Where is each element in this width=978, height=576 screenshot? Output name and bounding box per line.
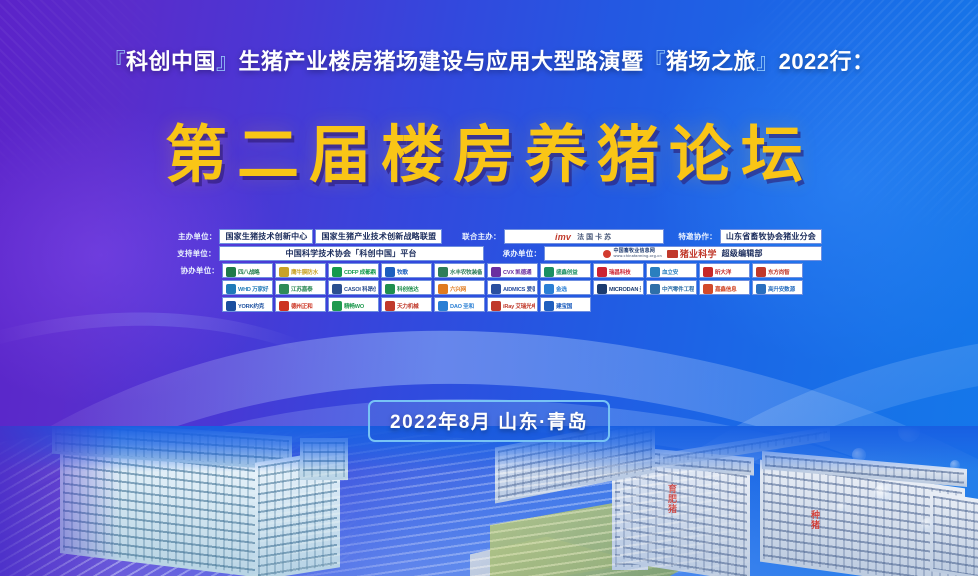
sponsor-logo: DAO 圣和: [434, 297, 485, 312]
bokeh-4: [874, 484, 892, 502]
sponsor-logo-mark-icon: [544, 284, 554, 294]
poster-main-title: 第二届楼房养猪论坛: [0, 104, 978, 194]
sponsor-logo-mark-icon: [756, 267, 766, 277]
sponsor-row-1: 协办单位： 四八战略鹰牛膜防水CDFP 成都鼎峰牧歌水丰农牧装备CVX 凯德通盛…: [176, 263, 824, 278]
bracket-open-2: 『: [644, 49, 667, 74]
sponsor-logo-name: MICRODAN 麦克罗凡: [609, 281, 641, 295]
label-co-organiser: 联合主办：: [458, 231, 503, 242]
sponsor-logo: 嘉鑫信息: [699, 280, 750, 295]
sponsor-logo: 天力机械: [381, 297, 432, 312]
conference-poster: 育肥猪 种猪 『科创中国』生猪产业楼房猪场建设与应用大型路演暨『猪场之旅』202…: [0, 0, 978, 576]
label-support-unit: 支持单位：: [176, 248, 219, 259]
sponsor-logo: 六兴网: [434, 280, 485, 295]
sponsor-row-3: YORK约克德州正和精畅WO天力机械DAO 圣和iRay 艾瑞光电建宝国: [176, 297, 824, 312]
organiser-row-2: 支持单位： 中国科学技术协会「科创中国」平台 承办单位： 中国畜牧业信息网 ww…: [176, 246, 824, 261]
host-name-2: 猪业科学: [680, 247, 717, 260]
sponsor-logo-name: CASOI 科昂仪器: [344, 281, 376, 295]
sponsor-logos-row-1: 四八战略鹰牛膜防水CDFP 成都鼎峰牧歌水丰农牧装备CVX 凯德通盛鑫创益瑞昌科…: [222, 263, 805, 278]
sponsor-logo-name: 中汽零件工程设计: [662, 281, 694, 295]
sponsor-logo-name: 牧歌: [397, 264, 429, 278]
sponsor-logo-mark-icon: [226, 284, 236, 294]
sponsor-logo-name: 嘉鑫信息: [715, 281, 747, 295]
sponsor-row-2: WHD 万家好江苏嘉泰CASOI 科昂仪器科创信达六兴网AIDMICS 爱德华卡…: [176, 280, 824, 295]
organiser-cell-2: 国家生猪产业技术创新战略联盟: [315, 229, 442, 244]
sponsor-logo-name: 鹰牛膜防水: [291, 264, 323, 278]
sponsor-logo: AIDMICS 爱德华卡: [487, 280, 538, 295]
sponsor-logo-mark-icon: [544, 267, 554, 277]
organiser-row-1: 主办单位： 国家生猪技术创新中心 国家生猪产业技术创新战略联盟 联合主办： im…: [176, 229, 824, 244]
sponsor-logo: 四八战略: [222, 263, 273, 278]
poster-subtitle: 『科创中国』生猪产业楼房猪场建设与应用大型路演暨『猪场之旅』2022行：: [0, 44, 978, 76]
sponsor-logo-name: 四八战略: [238, 264, 270, 278]
magazine-mark-icon: [667, 250, 678, 258]
sponsor-logo: 东方尚智: [752, 263, 803, 278]
sponsor-logo-mark-icon: [279, 284, 289, 294]
sponsor-logo: 金选: [540, 280, 591, 295]
pig-farm-photo-band: 育肥猪 种猪: [0, 426, 978, 576]
support-unit-cell: 中国科学技术协会「科创中国」平台: [219, 246, 484, 261]
bracket-close-1: 』: [216, 49, 239, 74]
host-circle-icon: [603, 250, 611, 258]
bracket-close-2: 』: [756, 49, 779, 74]
sponsor-logo-name: 六兴网: [450, 281, 482, 295]
sponsor-logo-mark-icon: [438, 301, 448, 311]
sponsor-logo: CASOI 科昂仪器: [328, 280, 379, 295]
host-name-3: 超级编辑部: [722, 248, 763, 259]
sponsor-logo: 中汽零件工程设计: [646, 280, 697, 295]
sponsor-logo-name: 江苏嘉泰: [291, 281, 323, 295]
special-partner-cell: 山东省畜牧协会猪业分会: [720, 229, 822, 244]
sponsor-logo-name: 瑞昌科技: [609, 264, 641, 278]
label-main-organiser: 主办单位：: [176, 231, 219, 242]
bokeh-7: [837, 502, 848, 513]
sponsor-logo: MICRODAN 麦克罗凡: [593, 280, 644, 295]
sponsor-logo-mark-icon: [491, 267, 501, 277]
sponsor-logo-name: 昕大洋: [715, 264, 747, 278]
sponsor-logo-mark-icon: [491, 301, 501, 311]
sponsor-logo: 牧歌: [381, 263, 432, 278]
sponsor-logo: 鹰牛膜防水: [275, 263, 326, 278]
host-logo-1: 中国畜牧业信息网 www.chinafarming.org.cn: [603, 249, 661, 259]
sponsor-logo-mark-icon: [438, 267, 448, 277]
sponsor-logo: iRay 艾瑞光电: [487, 297, 538, 312]
co-organiser-imv-cell: imv 法国卡苏: [504, 229, 665, 244]
sponsor-logo-mark-icon: [650, 284, 660, 294]
sponsor-logo-name: WHD 万家好: [238, 281, 270, 295]
subtitle-part-4: 2022行：: [779, 49, 875, 74]
sponsor-logos-row-2: WHD 万家好江苏嘉泰CASOI 科昂仪器科创信达六兴网AIDMICS 爱德华卡…: [222, 280, 805, 295]
sponsor-logo: 高升安数源: [752, 280, 803, 295]
sponsor-logo-name: 天力机械: [397, 298, 429, 312]
imv-sub-text: 法国卡苏: [577, 232, 613, 242]
sponsor-logo-mark-icon: [756, 284, 766, 294]
sponsor-logo-name: 精畅WO: [344, 298, 376, 312]
subtitle-part-2: 生猪产业楼房猪场建设与应用大型路演暨: [239, 49, 644, 74]
sponsor-logo: 江苏嘉泰: [275, 280, 326, 295]
sponsor-logo: WHD 万家好: [222, 280, 273, 295]
sponsor-logo-name: 盛鑫创益: [556, 264, 588, 278]
sponsor-logo-name: 水丰农牧装备: [450, 264, 482, 278]
sponsor-logo-mark-icon: [597, 284, 607, 294]
sponsor-logo: 建宝国: [540, 297, 591, 312]
band-left-fade: [0, 426, 120, 576]
sponsor-logo-name: 科创信达: [397, 281, 429, 295]
sponsor-logo-mark-icon: [385, 267, 395, 277]
organiser-cell-1: 国家生猪技术创新中心: [219, 229, 313, 244]
sponsor-logo-mark-icon: [385, 301, 395, 311]
sponsor-logo-mark-icon: [438, 284, 448, 294]
sponsor-logo-name: iRay 艾瑞光电: [503, 298, 535, 312]
sponsor-logo: CVX 凯德通: [487, 263, 538, 278]
sponsor-logo-mark-icon: [491, 284, 501, 294]
sponsor-logo-name: CVX 凯德通: [503, 264, 535, 278]
sponsor-logo-name: 德州正和: [291, 298, 323, 312]
sponsor-logo: 水丰农牧装备: [434, 263, 485, 278]
sponsor-logo-name: 高升安数源: [768, 281, 800, 295]
host-unit-cell: 中国畜牧业信息网 www.chinafarming.org.cn 猪业科学 超级…: [544, 246, 822, 261]
sponsor-logo: 科创信达: [381, 280, 432, 295]
label-co-sponsor: 协办单位：: [176, 265, 222, 276]
sponsor-logo-mark-icon: [279, 267, 289, 277]
date-location-badge: 2022年8月 山东·青岛: [368, 400, 610, 442]
sponsor-logo: 昕大洋: [699, 263, 750, 278]
label-special-partner: 特邀协作：: [674, 231, 719, 242]
sponsor-logo-mark-icon: [385, 284, 395, 294]
sponsor-logo: YORK约克: [222, 297, 273, 312]
sponsor-logo-name: CDFP 成都鼎峰: [344, 264, 376, 278]
sponsor-logo-mark-icon: [332, 301, 342, 311]
sponsor-logo-name: YORK约克: [238, 298, 270, 312]
host-url-1: www.chinafarming.org.cn: [613, 254, 661, 259]
red-sign-zhongzhu: 种猪: [810, 510, 819, 530]
sponsor-logo-mark-icon: [279, 301, 289, 311]
sponsor-logos-row-3: YORK约克德州正和精畅WO天力机械DAO 圣和iRay 艾瑞光电建宝国: [222, 297, 593, 312]
sponsor-logo-mark-icon: [332, 267, 342, 277]
building-right-far: [930, 491, 978, 576]
sponsor-logo-mark-icon: [703, 267, 713, 277]
sponsor-logo-name: 东方尚智: [768, 264, 800, 278]
subtitle-part-1: 科创中国: [126, 49, 216, 74]
sponsor-logo-name: 建宝国: [556, 298, 588, 312]
sponsor-logo-name: AIDMICS 爱德华卡: [503, 281, 535, 295]
sponsor-logo: CDFP 成都鼎峰: [328, 263, 379, 278]
sponsor-logo-mark-icon: [544, 301, 554, 311]
host-logo-2: 猪业科学: [667, 247, 717, 260]
sponsor-logo-mark-icon: [703, 284, 713, 294]
sponsor-logo-mark-icon: [332, 284, 342, 294]
sponsor-logo-name: 金选: [556, 281, 588, 295]
sponsor-logo: 血立安: [646, 263, 697, 278]
subtitle-part-3: 猪场之旅: [666, 49, 756, 74]
sponsor-logo-mark-icon: [226, 267, 236, 277]
sponsor-logo: 瑞昌科技: [593, 263, 644, 278]
sponsor-logo-mark-icon: [226, 301, 236, 311]
sponsor-logo-mark-icon: [650, 267, 660, 277]
sponsor-logo-name: 血立安: [662, 264, 694, 278]
bokeh-6: [921, 518, 934, 531]
imv-logo-text: imv: [555, 232, 571, 242]
sponsor-logo-mark-icon: [597, 267, 607, 277]
host-logo-1-texts: 中国畜牧业信息网 www.chinafarming.org.cn: [613, 249, 661, 259]
organiser-block: 主办单位： 国家生猪技术创新中心 国家生猪产业技术创新战略联盟 联合主办： im…: [176, 229, 824, 314]
label-host-unit: 承办单位：: [500, 248, 545, 259]
bracket-open-1: 『: [103, 49, 126, 74]
sponsor-logo-name: DAO 圣和: [450, 298, 482, 312]
sponsor-logo: 精畅WO: [328, 297, 379, 312]
sponsor-logo: 德州正和: [275, 297, 326, 312]
sponsor-logo: 盛鑫创益: [540, 263, 591, 278]
